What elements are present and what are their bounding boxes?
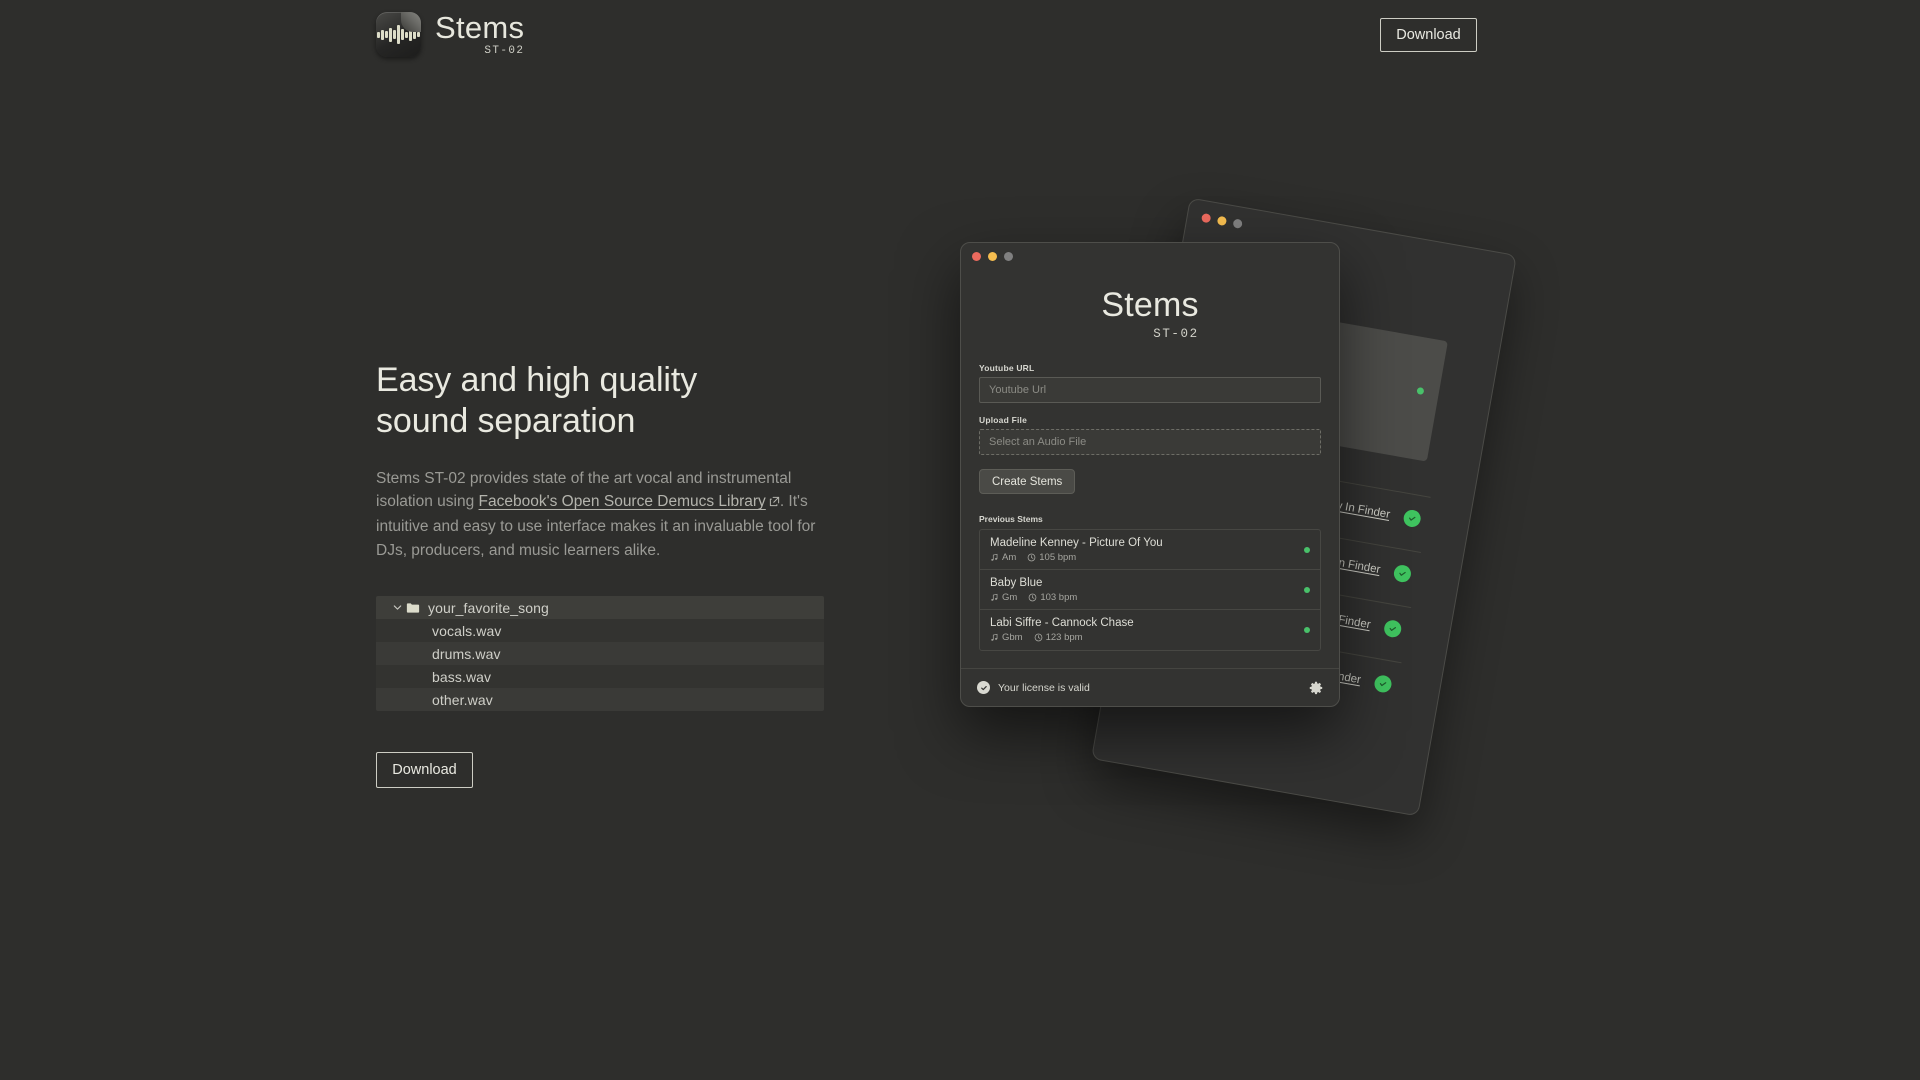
header-download-button[interactable]: Download (1380, 18, 1477, 52)
list-item[interactable]: Madeline Kenney - Picture Of You Am 105 … (980, 530, 1320, 570)
list-item[interactable]: Labi Siffre - Cannock Chase Gbm 123 bpm (980, 610, 1320, 650)
headline-line-2: sound separation (376, 402, 635, 440)
upload-file-input[interactable] (979, 429, 1321, 455)
youtube-url-label: Youtube URL (979, 363, 1321, 373)
app-window: Stems ST-02 Youtube URL Upload File Crea… (960, 242, 1340, 707)
stem-bpm: 123 bpm (1034, 632, 1083, 643)
license-status: Your license is valid (977, 681, 1090, 694)
stem-title: Labi Siffre - Cannock Chase (990, 617, 1134, 629)
file-name: drums.wav (432, 646, 501, 662)
app-body: Youtube URL Upload File Create Stems Pre… (961, 363, 1339, 651)
site-header: Stems ST-02 Download (0, 0, 1920, 80)
metronome-icon (1027, 553, 1036, 562)
external-link-icon (769, 491, 780, 515)
stem-bpm: 105 bpm (1027, 552, 1076, 563)
hero-download-button[interactable]: Download (376, 752, 473, 788)
app-screenshot-stack: nnock Show In Finder Show In Finder Show… (960, 250, 1580, 870)
check-circle-icon (1373, 674, 1393, 694)
headline-line-1: Easy and high quality (376, 361, 697, 399)
window-traffic-lights (972, 252, 1013, 261)
chevron-down-icon[interactable] (388, 602, 406, 613)
folder-icon (406, 602, 428, 614)
youtube-url-input[interactable] (979, 377, 1321, 403)
license-text: Your license is valid (998, 682, 1090, 694)
stem-key: Am (990, 552, 1016, 563)
stem-bpm: 103 bpm (1028, 592, 1077, 603)
window-titlebar (961, 243, 1339, 269)
metronome-icon (1028, 593, 1037, 602)
check-circle-icon (977, 681, 990, 694)
stem-title: Madeline Kenney - Picture Of You (990, 537, 1163, 549)
brand-subtitle: ST-02 (484, 46, 524, 57)
hero-section: Easy and high quality sound separation S… (376, 360, 836, 562)
stem-info: Labi Siffre - Cannock Chase Gbm 123 bpm (990, 617, 1134, 643)
music-note-icon (990, 633, 999, 642)
minimize-button[interactable] (988, 252, 997, 261)
status-badge (1304, 547, 1310, 553)
file-tree-item[interactable]: bass.wav (376, 665, 824, 688)
previous-stems-label: Previous Stems (979, 514, 1321, 524)
gear-icon[interactable] (1309, 681, 1323, 695)
link-label: Facebook's Open Source Demucs Library (479, 493, 766, 510)
upload-file-field-group: Upload File (979, 415, 1321, 455)
youtube-url-field-group: Youtube URL (979, 363, 1321, 403)
page-title: Easy and high quality sound separation (376, 360, 836, 443)
file-tree-item[interactable]: drums.wav (376, 642, 824, 665)
previous-stems-list: Madeline Kenney - Picture Of You Am 105 … (979, 529, 1321, 651)
close-button[interactable] (972, 252, 981, 261)
file-tree: your_favorite_song vocals.wav drums.wav … (376, 596, 824, 711)
file-name: other.wav (432, 692, 493, 708)
app-title: Stems (961, 288, 1339, 322)
music-note-icon (990, 553, 999, 562)
create-stems-button[interactable]: Create Stems (979, 469, 1075, 494)
file-tree-item[interactable]: vocals.wav (376, 619, 824, 642)
metronome-icon (1034, 633, 1043, 642)
app-footer: Your license is valid (961, 668, 1339, 706)
file-tree-item[interactable]: other.wav (376, 688, 824, 711)
stem-meta: Am 105 bpm (990, 552, 1163, 563)
file-name: vocals.wav (432, 623, 501, 639)
minimize-button[interactable] (1217, 216, 1227, 226)
stem-info: Baby Blue Gm 103 bpm (990, 577, 1077, 603)
file-tree-root-label: your_favorite_song (428, 600, 549, 616)
list-item[interactable]: Baby Blue Gm 103 bpm (980, 570, 1320, 610)
stem-title: Baby Blue (990, 577, 1077, 589)
window-traffic-lights (1201, 213, 1243, 229)
check-circle-icon (1383, 619, 1403, 639)
close-button[interactable] (1201, 213, 1211, 223)
brand-text: Stems ST-02 (435, 12, 524, 57)
demucs-library-link[interactable]: Facebook's Open Source Demucs Library (479, 493, 766, 510)
maximize-button[interactable] (1004, 252, 1013, 261)
status-badge (1304, 627, 1310, 633)
hero-paragraph: Stems ST-02 provides state of the art vo… (376, 467, 826, 562)
music-note-icon (990, 593, 999, 602)
file-name: bass.wav (432, 669, 491, 685)
brand-name: Stems (435, 12, 524, 43)
landing-page: Stems ST-02 Download Easy and high quali… (0, 0, 1920, 1080)
stem-meta: Gm 103 bpm (990, 592, 1077, 603)
stem-info: Madeline Kenney - Picture Of You Am 105 … (990, 537, 1163, 563)
check-circle-icon (1393, 564, 1413, 584)
app-brand: Stems ST-02 (961, 269, 1339, 341)
status-badge (1304, 587, 1310, 593)
maximize-button[interactable] (1232, 218, 1242, 228)
waveform-icon (376, 12, 421, 57)
stem-key: Gm (990, 592, 1017, 603)
upload-file-label: Upload File (979, 415, 1321, 425)
file-tree-folder-row[interactable]: your_favorite_song (376, 596, 824, 619)
brand[interactable]: Stems ST-02 (376, 12, 524, 57)
stem-key: Gbm (990, 632, 1023, 643)
app-subtitle: ST-02 (1013, 327, 1339, 341)
check-circle-icon (1402, 509, 1422, 529)
stem-meta: Gbm 123 bpm (990, 632, 1134, 643)
